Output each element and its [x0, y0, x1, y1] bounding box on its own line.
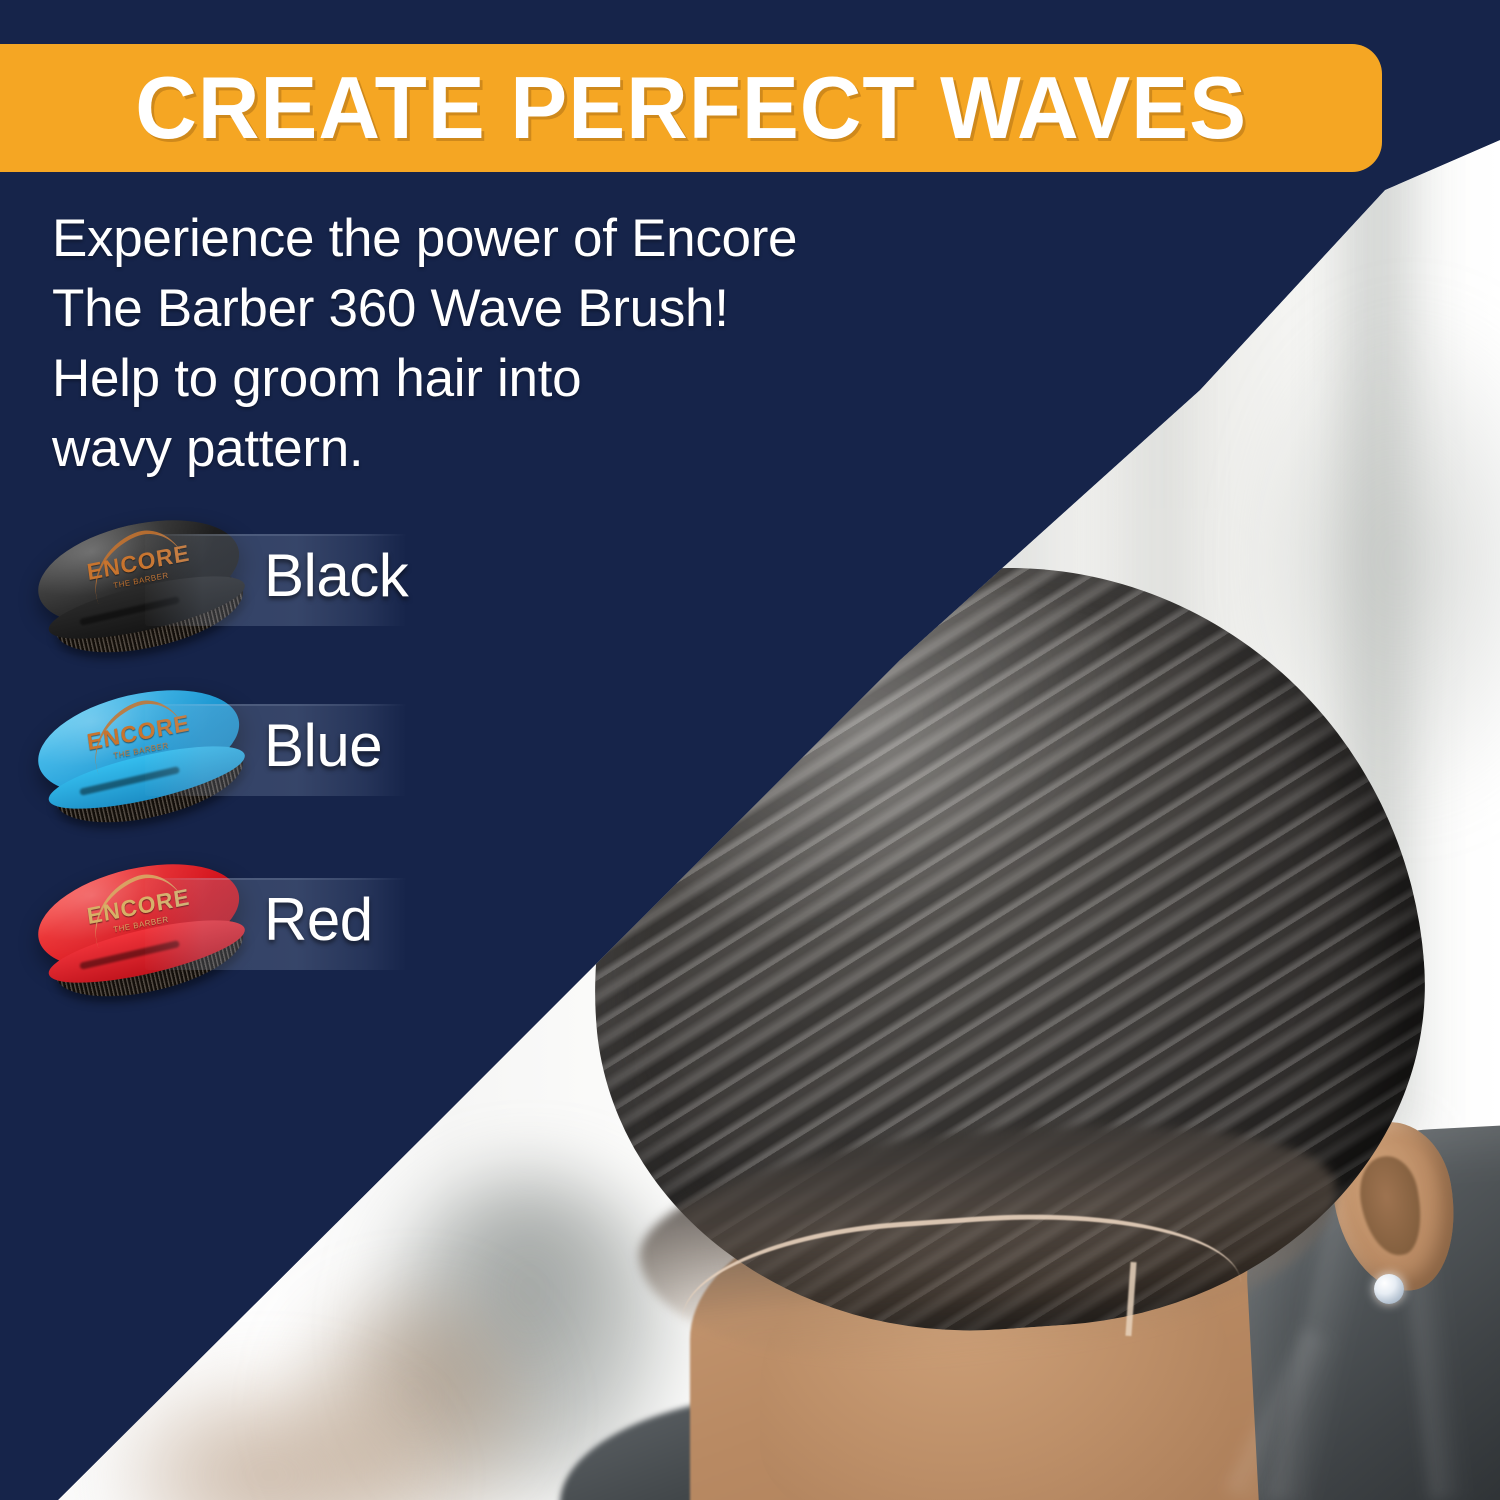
earring-stud	[1374, 1274, 1404, 1304]
color-option-red[interactable]: ENCORE THE BARBER Red	[0, 856, 460, 1006]
color-option-black[interactable]: ENCORE THE BARBER Black	[0, 512, 460, 662]
color-option-list: ENCORE THE BARBER Black ENCORE THE BARBE…	[0, 0, 460, 1500]
poster: CREATE PERFECT WAVES Experience the powe…	[0, 0, 1500, 1500]
color-label-blue: Blue	[264, 716, 382, 776]
color-label-black: Black	[264, 546, 408, 606]
color-option-blue[interactable]: ENCORE THE BARBER Blue	[0, 682, 460, 832]
color-label-red: Red	[264, 890, 373, 950]
